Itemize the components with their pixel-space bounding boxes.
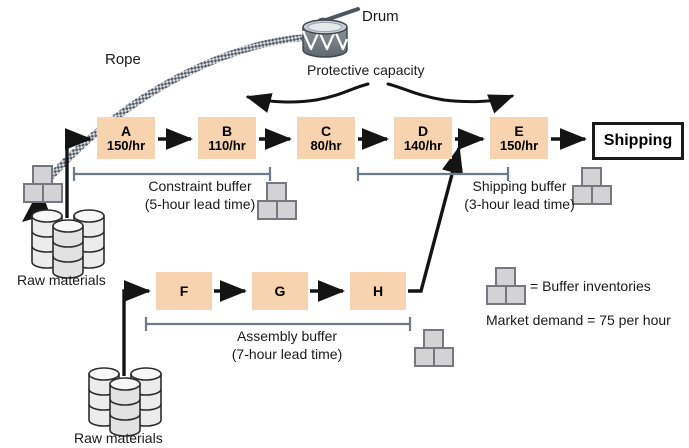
process-label-e: E (514, 124, 523, 139)
process-rate-c: 80/hr (310, 139, 341, 153)
drum-label: Drum (362, 8, 399, 25)
process-box-c[interactable]: C 80/hr (297, 117, 355, 159)
protective-capacity-arrows (248, 84, 512, 102)
constraint-buffer-lead-time: (5-hour lead time) (120, 196, 280, 214)
process-box-g[interactable]: G (252, 272, 308, 310)
diagram-canvas: A 150/hr B 110/hr C 80/hr D 140/hr E 150… (0, 0, 689, 448)
constraint-buffer-name: Constraint buffer (120, 178, 280, 196)
legend-inventory-text: = Buffer inventories (530, 278, 651, 294)
process-box-b[interactable]: B 110/hr (198, 117, 256, 159)
raw-materials-bottom-icon (89, 368, 161, 436)
process-label-d: D (418, 124, 428, 139)
process-box-f[interactable]: F (156, 272, 212, 310)
process-rate-a: 150/hr (107, 139, 145, 153)
protective-capacity-label: Protective capacity (307, 62, 425, 78)
process-box-e[interactable]: E 150/hr (490, 117, 548, 159)
shipping-buffer-lead-time: (3-hour lead time) (452, 196, 587, 214)
process-label-b: B (222, 124, 232, 139)
process-label-f: F (180, 284, 189, 299)
raw-materials-top-label: Raw materials (17, 272, 106, 288)
process-rate-b: 110/hr (208, 139, 246, 153)
process-label-h: H (373, 284, 383, 299)
process-box-h[interactable]: H (350, 272, 406, 310)
process-label-c: C (321, 124, 331, 139)
assembly-buffer-name: Assembly buffer (212, 328, 362, 346)
process-rate-e: 150/hr (500, 139, 538, 153)
shipping-buffer-label: Shipping buffer (3-hour lead time) (452, 178, 587, 213)
rope-label: Rope (105, 51, 141, 68)
process-rate-d: 140/hr (404, 139, 442, 153)
process-box-d[interactable]: D 140/hr (394, 117, 452, 159)
raw-materials-top-icon (32, 210, 104, 278)
raw-materials-bottom-label: Raw materials (74, 430, 163, 446)
process-label-g: G (275, 284, 286, 299)
shipping-label: Shipping (604, 132, 672, 150)
assembly-buffer-lead-time: (7-hour lead time) (212, 346, 362, 364)
process-label-a: A (121, 124, 131, 139)
shipping-box[interactable]: Shipping (592, 122, 684, 160)
process-box-a[interactable]: A 150/hr (97, 117, 155, 159)
legend-inventory-swatch (487, 268, 525, 304)
legend-market-demand-text: Market demand = 75 per hour (486, 312, 671, 328)
shipping-buffer-name: Shipping buffer (452, 178, 587, 196)
assembly-buffer-label: Assembly buffer (7-hour lead time) (212, 328, 362, 363)
constraint-buffer-label: Constraint buffer (5-hour lead time) (120, 178, 280, 213)
inventory-stack-assembly (415, 330, 453, 366)
drum-icon (303, 9, 358, 57)
